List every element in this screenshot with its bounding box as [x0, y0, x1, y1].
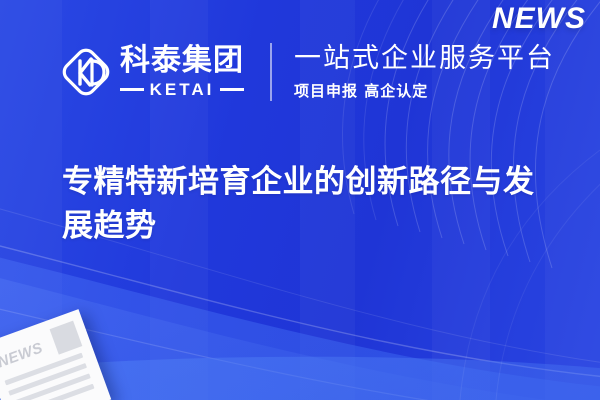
- wordmark-dash-right: [220, 88, 244, 91]
- tagline-block: 一站式企业服务平台 项目申报 高企认定: [294, 43, 555, 100]
- newspaper-masthead: NEWS: [0, 340, 45, 370]
- header-divider: [270, 43, 272, 101]
- wordmark-dash-left: [120, 88, 144, 91]
- newspaper-thumbnail: [50, 321, 83, 355]
- brand-name-en: KETAI: [144, 81, 221, 98]
- news-banner: 科泰集团 KETAI 一站式企业服务平台 项目申报 高企认定 NEWS 专精特新…: [0, 0, 600, 400]
- brand-wordmark: 科泰集团 KETAI: [120, 46, 244, 98]
- brand-name-cn: 科泰集团: [120, 46, 244, 76]
- brand-logo[interactable]: 科泰集团 KETAI: [60, 44, 244, 100]
- tagline-sub: 项目申报 高企认定: [294, 80, 555, 101]
- article-title: 专精特新培育企业的创新路径与发展趋势: [62, 160, 562, 248]
- tagline-main: 一站式企业服务平台: [294, 43, 555, 74]
- banner-header: 科泰集团 KETAI 一站式企业服务平台 项目申报 高企认定: [0, 34, 600, 110]
- ketai-diamond-monogram-icon: [60, 44, 112, 100]
- brand-name-en-row: KETAI: [120, 81, 244, 98]
- news-badge: NEWS: [492, 2, 586, 36]
